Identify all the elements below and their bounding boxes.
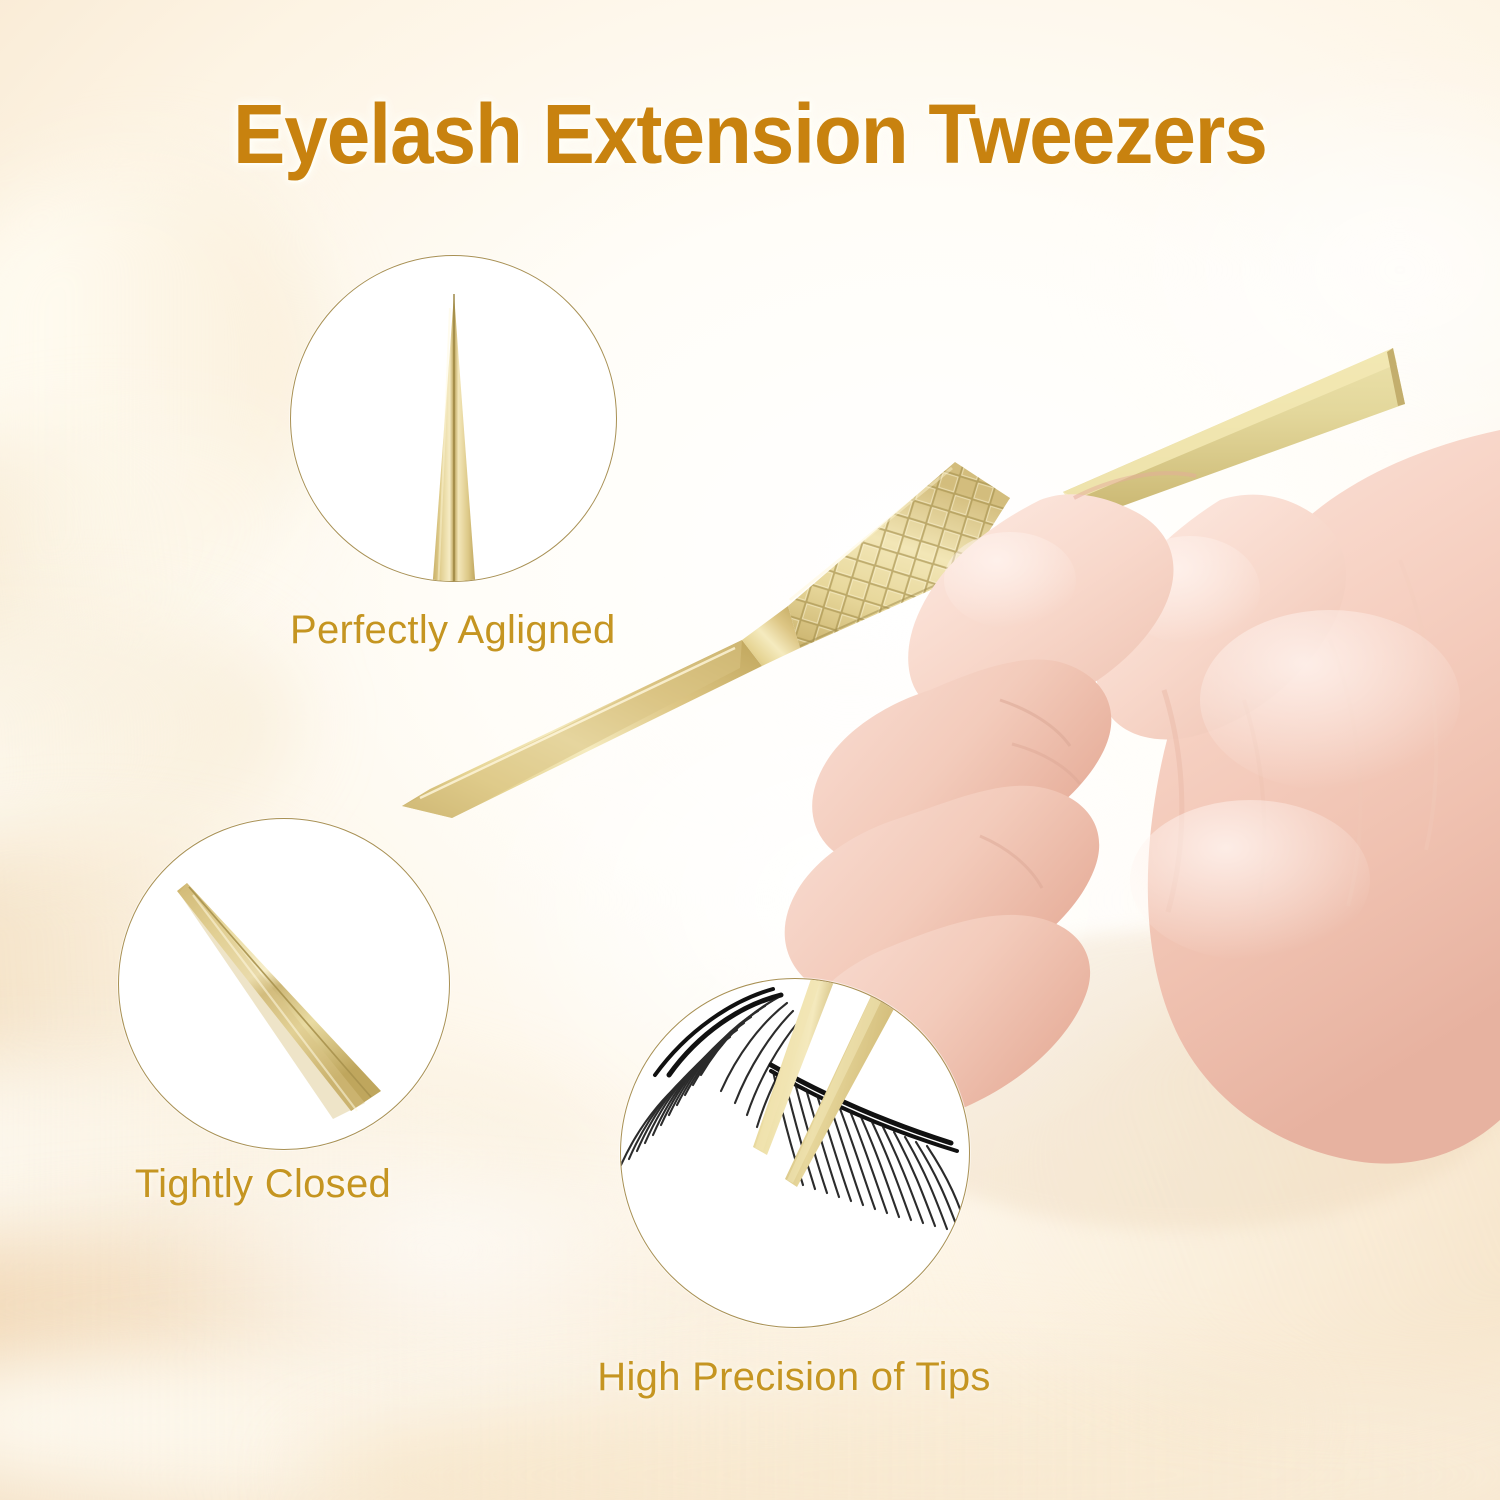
callout-label-perfectly-agligned: Perfectly Agligned [290,608,615,653]
callout-circle-tightly-closed [118,818,450,1150]
tweezer-tip-front-view-icon [394,292,514,582]
callout-circle-perfectly-agligned [290,255,617,582]
product-marketing-image: Eyelash Extension Tweezers [0,0,1500,1500]
callout-label-tightly-closed: Tightly Closed [98,1162,428,1207]
callout-circle-high-precision-of-tips [620,978,970,1328]
tweezer-tip-shaft [402,640,762,818]
tweezer-tips-with-lashes-icon [621,979,969,1327]
callout-label-high-precision-of-tips: High Precision of Tips [556,1355,1032,1400]
tweezer-tips-closed-icon [119,819,449,1149]
